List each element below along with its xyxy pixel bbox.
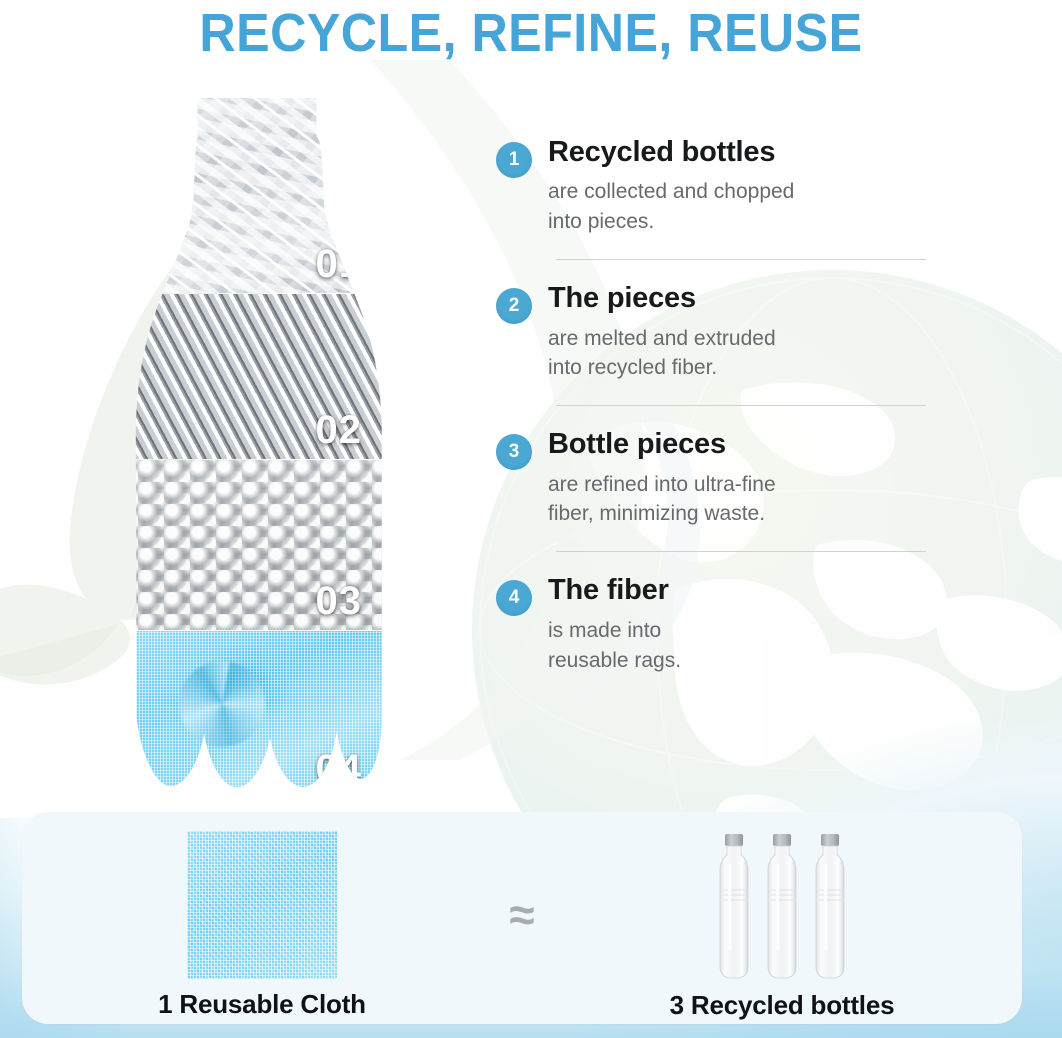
step-item-4: 4 The fiber is made into reusable rags. xyxy=(496,574,926,698)
page-title: RECYCLE, REFINE, REUSE xyxy=(37,2,1025,64)
plastic-bottle-icon xyxy=(760,834,804,980)
bottle-segment-01: 01 xyxy=(112,98,402,293)
step-description-3: are refined into ultra-fine fiber, minim… xyxy=(548,470,926,530)
step-header-2: 2 The pieces are melted and extruded int… xyxy=(496,282,926,383)
step-title-3: Bottle pieces xyxy=(548,428,926,460)
step-divider-1 xyxy=(556,259,926,260)
cloth-swirl xyxy=(179,661,265,747)
step-number-badge-2: 2 xyxy=(496,288,532,324)
step-title-1: Recycled bottles xyxy=(548,136,926,168)
step-item-3: 3 Bottle pieces are refined into ultra-f… xyxy=(496,428,926,552)
step-body-1: Recycled bottles are collected and chopp… xyxy=(548,136,926,237)
comparison-left-label: 1 Reusable Cloth xyxy=(158,989,366,1020)
approximately-equal-icon: ≈ xyxy=(509,891,534,937)
comparison-left: 1 Reusable Cloth xyxy=(22,817,502,1020)
bottle-silhouette: 01 02 03 04 xyxy=(112,98,402,798)
step-description-2: are melted and extruded into recycled fi… xyxy=(548,324,926,384)
step-item-2: 2 The pieces are melted and extruded int… xyxy=(496,282,926,406)
step-header-1: 1 Recycled bottles are collected and cho… xyxy=(496,136,926,237)
comparison-right-label: 3 Recycled bottles xyxy=(670,990,895,1021)
plastic-bottle-icon xyxy=(808,834,852,980)
step-title-4: The fiber xyxy=(548,574,926,606)
comparison-row: 1 Reusable Cloth ≈ xyxy=(22,812,1022,1024)
step-number-badge-4: 4 xyxy=(496,580,532,616)
step-number-badge-1: 1 xyxy=(496,142,532,178)
comparison-panel: 1 Reusable Cloth ≈ xyxy=(22,812,1022,1024)
bottle-group-image xyxy=(712,830,852,980)
step-description-4: is made into reusable rags. xyxy=(548,616,926,676)
step-number-badge-3: 3 xyxy=(496,434,532,470)
bottle-segment-04: 04 xyxy=(112,631,402,798)
bottle-segment-03: 03 xyxy=(112,460,402,630)
segment-label-01: 01 xyxy=(316,242,363,287)
step-divider-2 xyxy=(556,405,926,406)
segment-label-04: 04 xyxy=(316,747,363,792)
plastic-bottle-icon xyxy=(712,834,756,980)
step-header-3: 3 Bottle pieces are refined into ultra-f… xyxy=(496,428,926,529)
step-item-1: 1 Recycled bottles are collected and cho… xyxy=(496,136,926,260)
step-body-4: The fiber is made into reusable rags. xyxy=(548,574,926,675)
bottle-segment-02: 02 xyxy=(112,294,402,459)
bottle-diagram: 01 02 03 04 xyxy=(112,98,402,798)
cloth-swatch-image xyxy=(187,831,337,979)
comparison-right: 3 Recycled bottles xyxy=(542,816,1022,1021)
step-header-4: 4 The fiber is made into reusable rags. xyxy=(496,574,926,675)
segment-label-03: 03 xyxy=(316,579,363,624)
step-body-2: The pieces are melted and extruded into … xyxy=(548,282,926,383)
infographic-poster: RECYCLE, REFINE, REUSE 01 02 03 04 1 xyxy=(0,0,1062,1038)
step-body-3: Bottle pieces are refined into ultra-fin… xyxy=(548,428,926,529)
step-divider-3 xyxy=(556,551,926,552)
step-title-2: The pieces xyxy=(548,282,926,314)
step-description-1: are collected and chopped into pieces. xyxy=(548,177,926,237)
segment-label-02: 02 xyxy=(316,408,363,453)
process-steps-list: 1 Recycled bottles are collected and cho… xyxy=(496,136,926,720)
